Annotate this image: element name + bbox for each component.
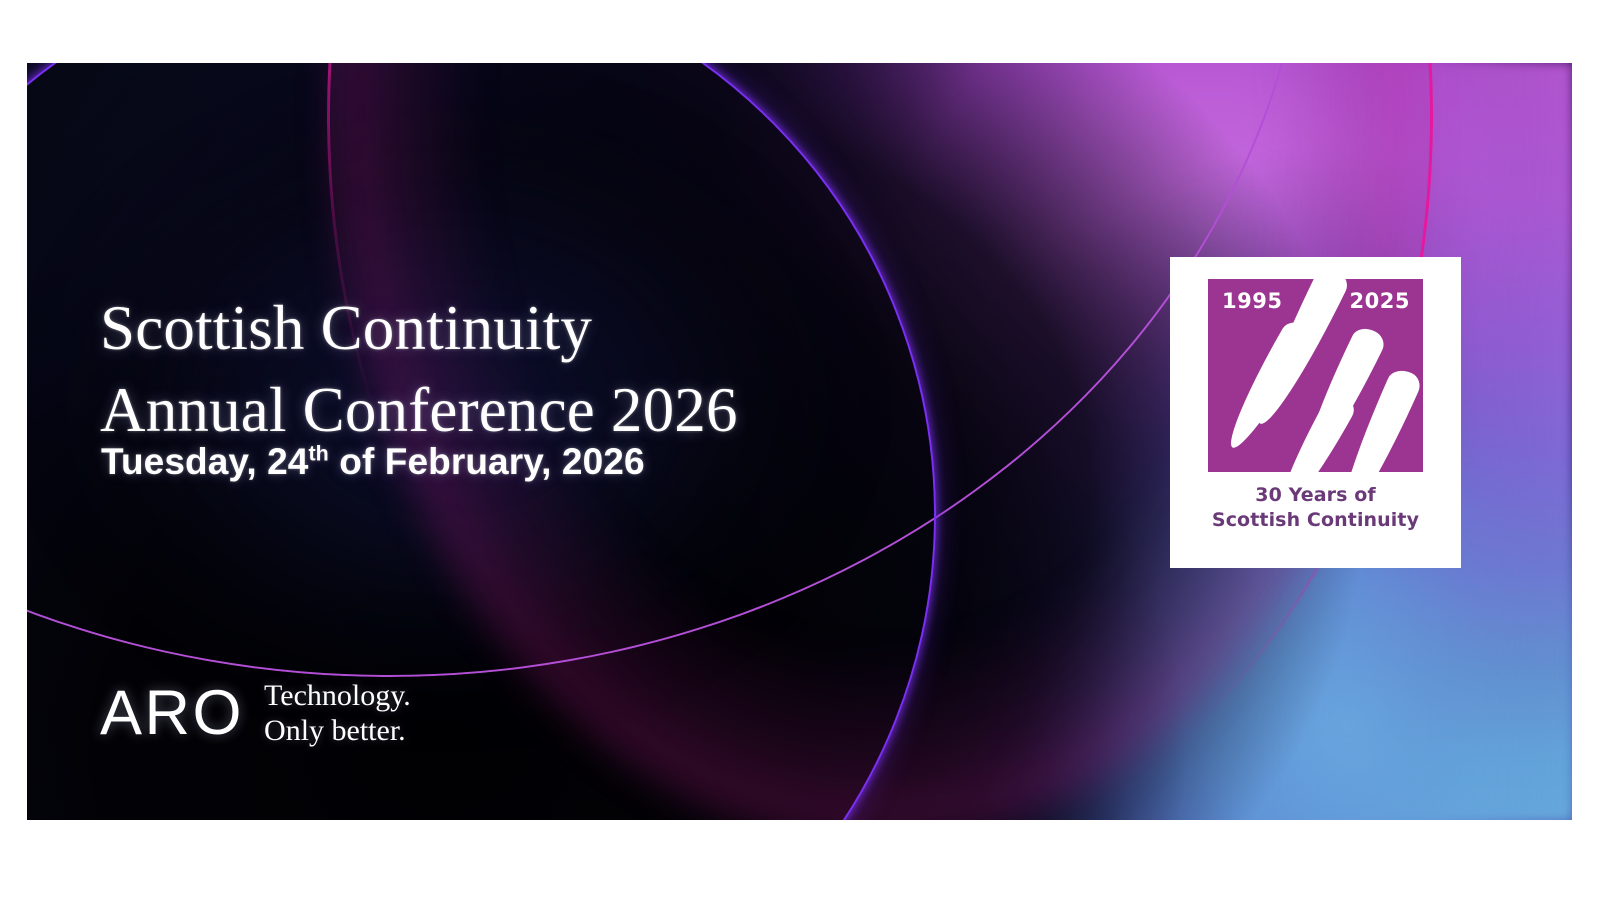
event-date: Tuesday, 24th of February, 2026 xyxy=(101,441,645,483)
aro-tagline: Technology. Only better. xyxy=(264,678,411,748)
logo-year-start: 1995 xyxy=(1222,289,1282,313)
headline-line-1: Scottish Continuity xyxy=(100,287,738,369)
page-root: Scottish Continuity Annual Conference 20… xyxy=(0,0,1600,900)
aro-tagline-line-1: Technology. xyxy=(264,678,411,713)
headline-line-2: Annual Conference 2026 xyxy=(100,369,738,451)
aro-tagline-line-2: Only better. xyxy=(264,713,411,748)
event-date-ordinal: th xyxy=(308,442,328,466)
logo-caption-line-1: 30 Years of xyxy=(1212,483,1419,508)
scottish-continuity-logo: 1995 2025 30 Years of Scottish Continuit… xyxy=(1170,257,1461,568)
page-title: Scottish Continuity Annual Conference 20… xyxy=(100,287,738,451)
event-date-suffix: of February, 2026 xyxy=(329,441,645,482)
logo-emblem-square: 1995 2025 xyxy=(1208,279,1423,472)
logo-caption-line-2: Scottish Continuity xyxy=(1212,508,1419,533)
conference-banner: Scottish Continuity Annual Conference 20… xyxy=(27,63,1572,820)
logo-year-end: 2025 xyxy=(1350,289,1410,313)
aro-wordmark: ARO xyxy=(100,682,244,745)
event-date-prefix: Tuesday, 24 xyxy=(101,441,308,482)
brush-stroke-icon xyxy=(1219,317,1318,456)
logo-caption: 30 Years of Scottish Continuity xyxy=(1212,483,1419,533)
aro-logo: ARO Technology. Only better. xyxy=(100,678,411,748)
